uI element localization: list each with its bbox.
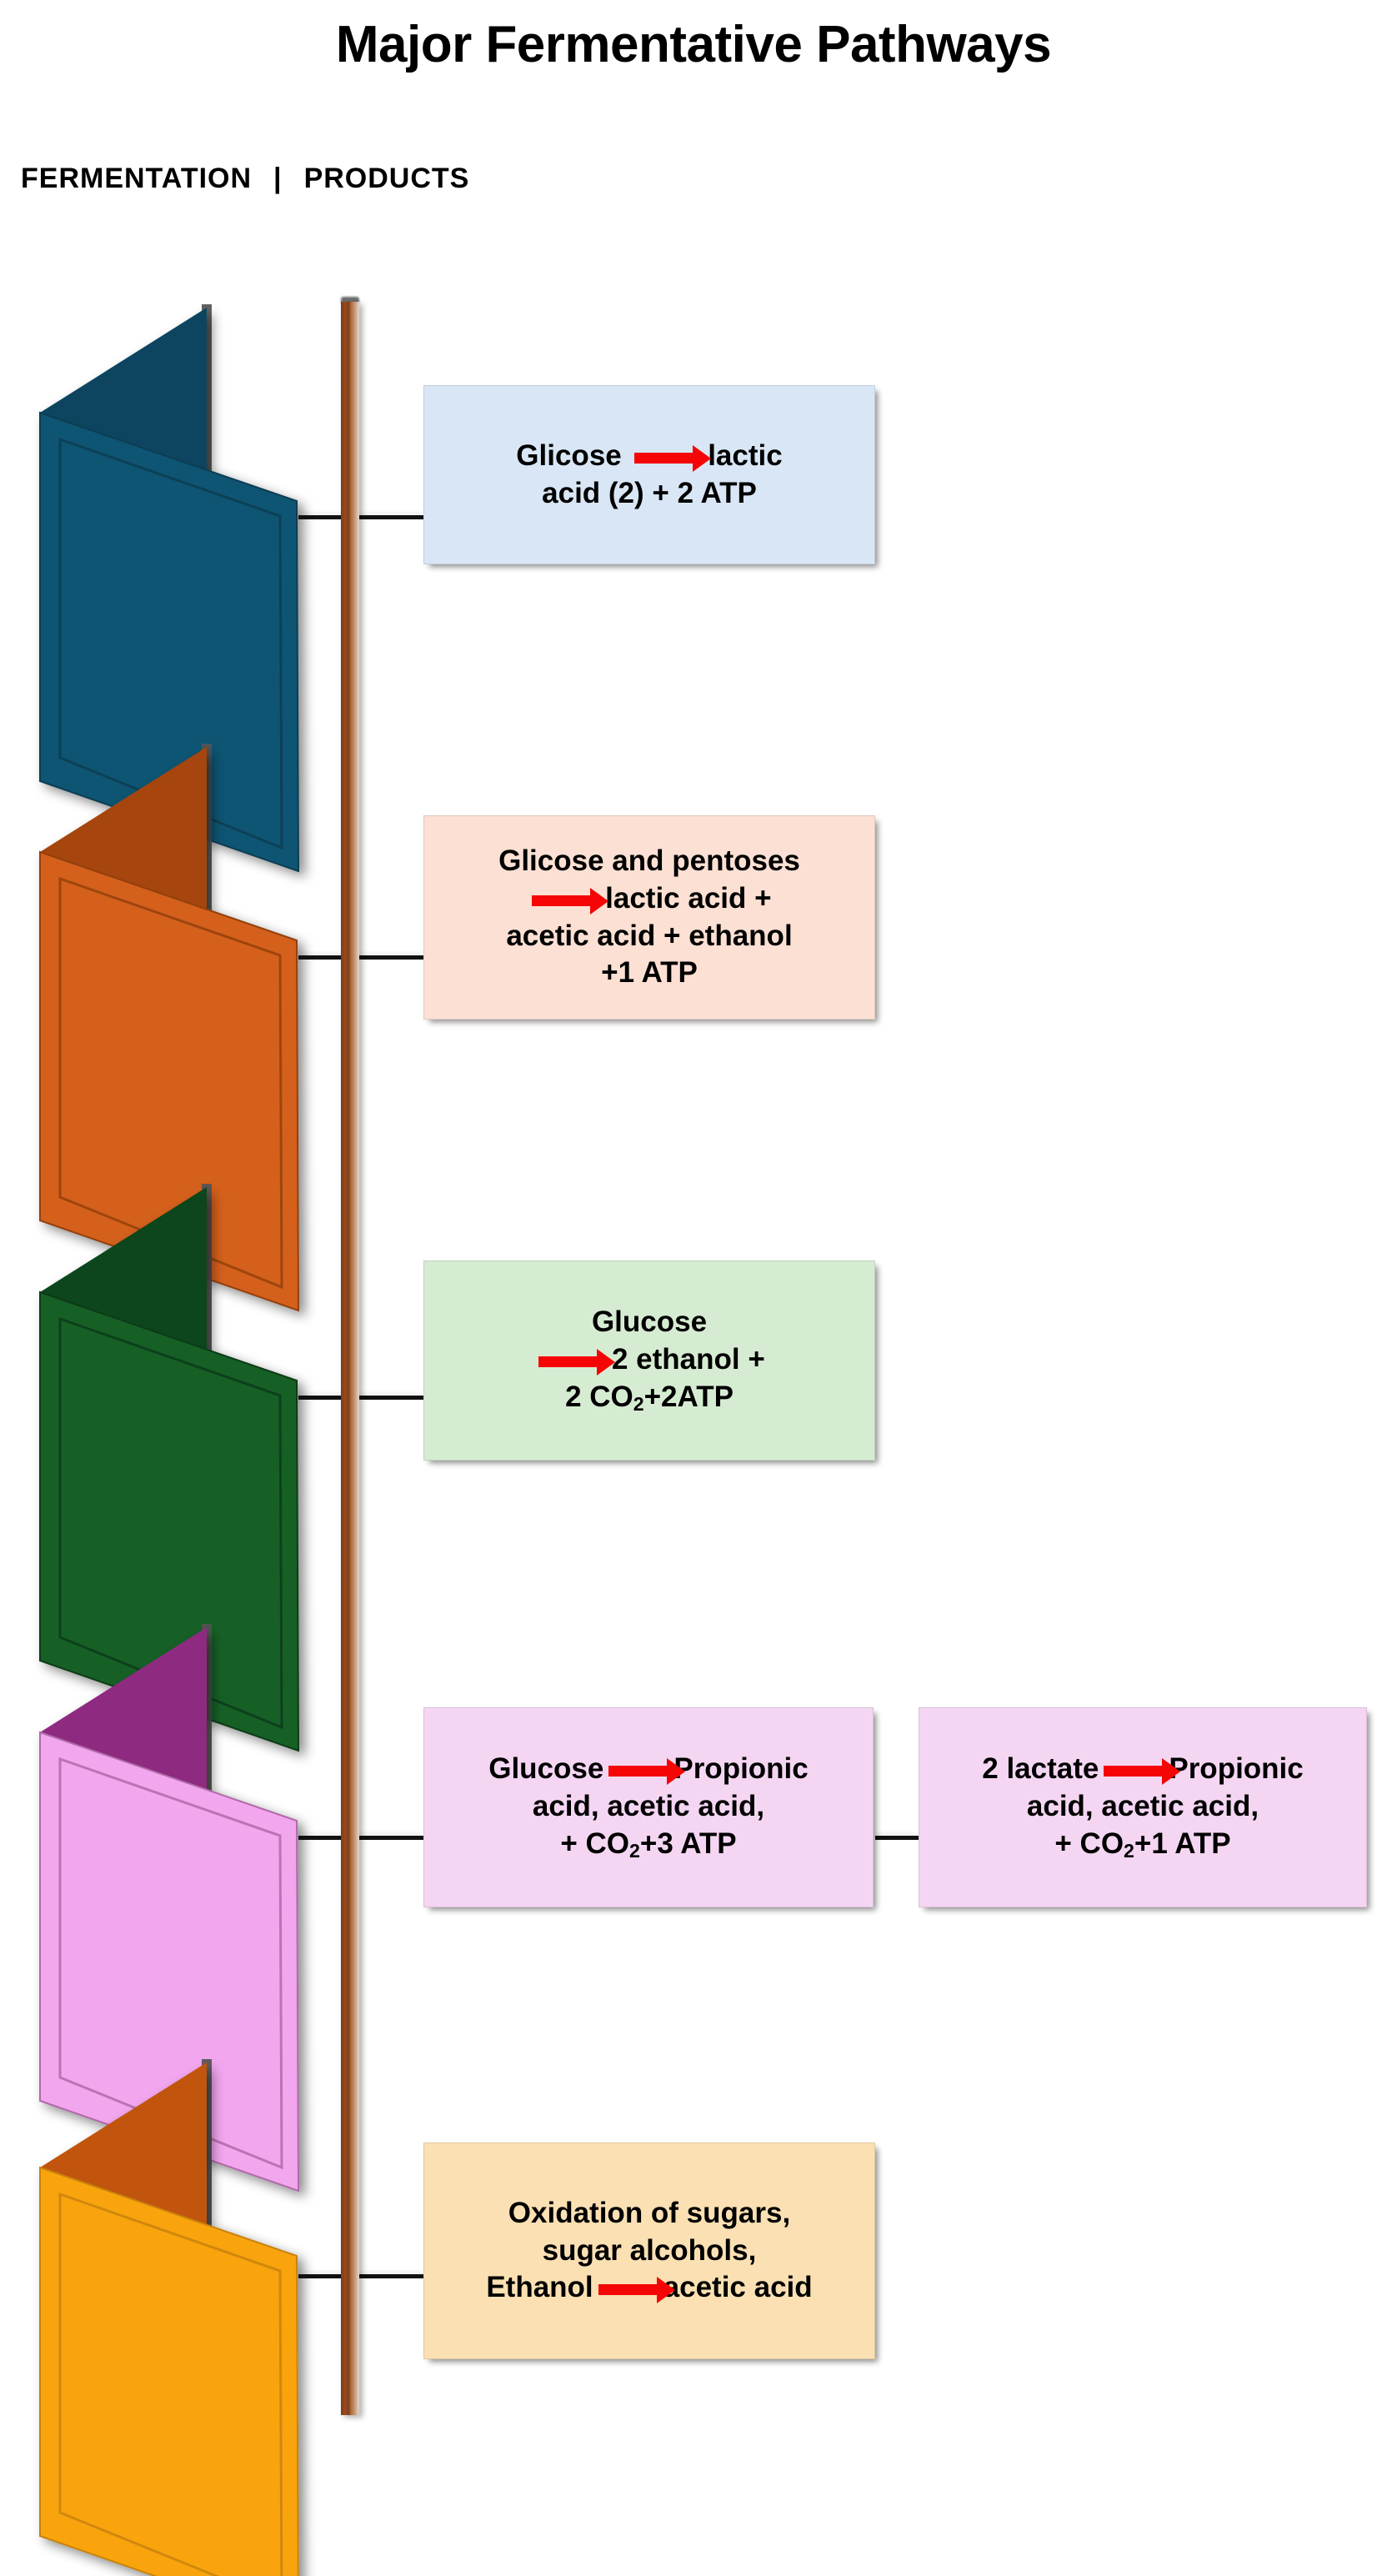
column-header-fermentation: FERMENTATION [21, 163, 252, 194]
product-line: Glicose lactic [516, 438, 782, 475]
product-line: GlucosePropionic [488, 1751, 809, 1788]
page-title: Major Fermentative Pathways [0, 15, 1387, 74]
product-line: sugar alcohols, [486, 2233, 812, 2270]
product-box-alcohol-product[interactable]: Glucose 2 ethanol +2 CO2+2ATP [423, 1260, 875, 1461]
reaction-arrow-icon [1104, 1766, 1164, 1777]
product-box-homofermentative-product[interactable]: Glicose lacticacid (2) + 2 ATP [423, 385, 875, 564]
banner-heterofermentative[interactable] [0, 727, 350, 1227]
banner-shape-acetic-acid [0, 2042, 350, 2576]
product-line: +1 ATP [498, 955, 800, 992]
product-line: Glucose [533, 1304, 765, 1341]
pathway-row-homofermentative: Glicose lacticacid (2) + 2 ATP [0, 288, 1387, 788]
banner-propionic-acid[interactable] [0, 1607, 350, 2107]
connector-line-propionic-acid-2 [875, 1836, 919, 1840]
product-text-propionic-from-lactate: 2 lactatePropionicacid, acetic acid,+ CO… [970, 1751, 1315, 1863]
product-box-heterofermentative-product[interactable]: Glicose and pentoses lactic acid +acetic… [423, 815, 875, 1020]
product-line: acetic acid + ethanol [498, 918, 800, 955]
product-line: Ethanolacetic acid [486, 2269, 812, 2307]
banner-acetic-acid[interactable] [0, 2042, 350, 2543]
pathway-row-propionic-acid: GlucosePropionicacid, acetic acid,+ CO2+… [0, 1607, 1387, 2107]
column-header-separator: | [252, 163, 304, 195]
reaction-arrow-icon [532, 895, 592, 906]
connector-line-homofermentative [298, 515, 423, 519]
reaction-arrow-icon [598, 2284, 658, 2295]
product-box-propionic-from-glucose[interactable]: GlucosePropionicacid, acetic acid,+ CO2+… [423, 1707, 874, 1907]
product-text-heterofermentative-product: Glicose and pentoses lactic acid +acetic… [487, 843, 812, 992]
product-line: Glicose and pentoses [498, 843, 800, 880]
product-line: + CO2+3 ATP [488, 1826, 809, 1864]
connector-line-heterofermentative [298, 955, 423, 960]
product-line: acid, acetic acid, [982, 1788, 1304, 1826]
pathway-row-heterofermentative: Glicose and pentoses lactic acid +acetic… [0, 727, 1387, 1227]
banner-alcohol[interactable] [0, 1167, 350, 1667]
reaction-arrow-icon [608, 1766, 668, 1777]
pathway-row-acetic-acid: Oxidation of sugars,sugar alcohols,Ethan… [0, 2042, 1387, 2543]
product-line: Oxidation of sugars, [486, 2195, 812, 2233]
vertical-pole [341, 302, 359, 2415]
product-text-acetic-acid-product: Oxidation of sugars,sugar alcohols,Ethan… [474, 2195, 824, 2307]
reaction-arrow-icon [634, 453, 694, 464]
product-line: lactic acid + [498, 880, 800, 918]
connector-line-propionic-acid [298, 1836, 423, 1840]
product-box-propionic-from-lactate[interactable]: 2 lactatePropionicacid, acetic acid,+ CO… [919, 1707, 1367, 1907]
product-text-alcohol-product: Glucose 2 ethanol +2 CO2+2ATP [522, 1304, 777, 1416]
product-line: 2 ethanol + [533, 1341, 765, 1379]
connector-line-acetic-acid [298, 2274, 423, 2278]
connector-line-alcohol [298, 1396, 423, 1400]
product-box-acetic-acid-product[interactable]: Oxidation of sugars,sugar alcohols,Ethan… [423, 2142, 875, 2359]
column-headers: FERMENTATION|PRODUCTS [21, 163, 469, 195]
product-line: + CO2+1 ATP [982, 1826, 1304, 1864]
product-text-propionic-from-glucose: GlucosePropionicacid, acetic acid,+ CO2+… [477, 1751, 820, 1863]
product-line: 2 CO2+2ATP [533, 1379, 765, 1417]
banner-homofermentative[interactable] [0, 288, 350, 788]
product-line: 2 lactatePropionic [982, 1751, 1304, 1788]
column-header-products: PRODUCTS [304, 163, 470, 194]
product-line: acid (2) + 2 ATP [516, 475, 782, 513]
pathway-row-alcohol: Glucose 2 ethanol +2 CO2+2ATP [0, 1167, 1387, 1667]
product-text-homofermentative-product: Glicose lacticacid (2) + 2 ATP [504, 438, 794, 513]
product-line: acid, acetic acid, [488, 1788, 809, 1826]
reaction-arrow-icon [538, 1356, 598, 1367]
